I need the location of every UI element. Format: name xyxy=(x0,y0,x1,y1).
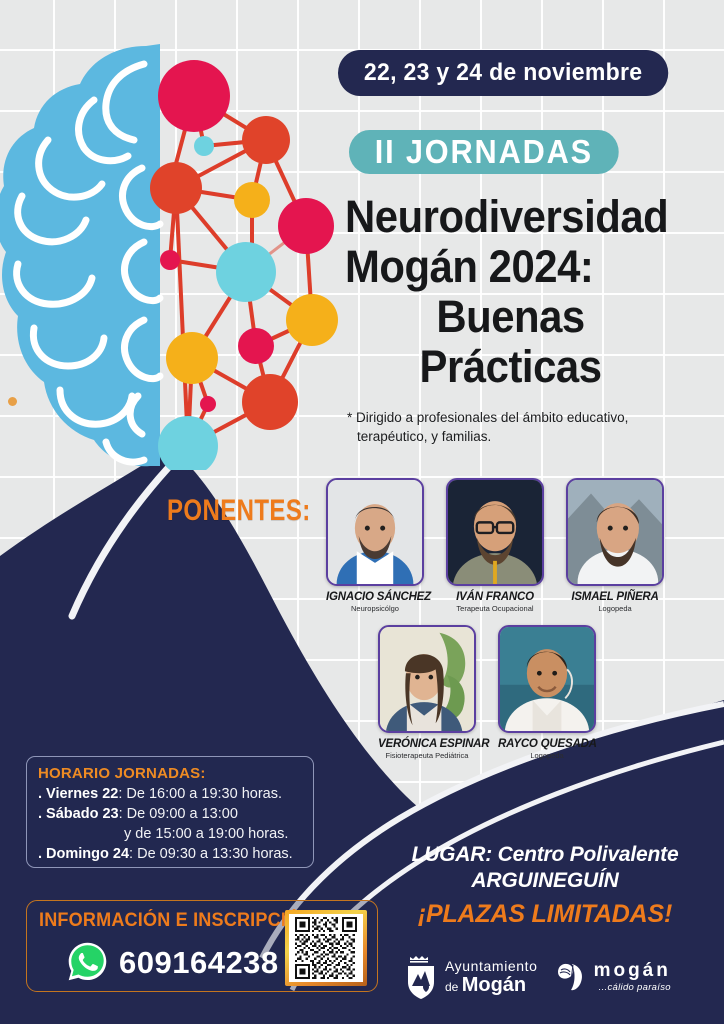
edition-badge: II JORNADAS xyxy=(349,130,619,174)
whatsapp-icon[interactable] xyxy=(67,941,108,982)
phone-number[interactable]: 609164238 xyxy=(119,945,279,981)
speaker-card: RAYCO QUESADA Logopeda xyxy=(498,625,596,760)
ayuntamiento-bottom-word: de Mogán xyxy=(445,975,538,995)
footer-logos: Ayuntamiento de Mogán mogán ...cálido pa… xyxy=(404,946,704,1008)
venue-info: LUGAR: Centro Polivalente ARGUINEGUÍN xyxy=(384,842,706,894)
contact-box: INFORMACIÓN E INSCRIPCIÓN: 609164238 xyxy=(26,900,378,992)
qr-code[interactable] xyxy=(285,910,367,986)
speakers-section-label: PONENTES: xyxy=(167,494,311,528)
contact-title: INFORMACIÓN E INSCRIPCIÓN: xyxy=(39,910,320,932)
speaker-name: RAYCO QUESADA xyxy=(498,738,596,750)
venue-line-2: ARGUINEGUÍN xyxy=(384,868,706,894)
ayuntamiento-logo: Ayuntamiento de Mogán xyxy=(404,954,538,1000)
speaker-photo xyxy=(326,478,424,586)
schedule-sunday-label: . Domingo 24 xyxy=(38,846,129,862)
speaker-photo xyxy=(446,478,544,586)
schedule-saturday-time2: y de 15:00 a 19:00 horas. xyxy=(38,824,302,844)
brain-right-network xyxy=(150,60,338,470)
speaker-role: Logopeda xyxy=(566,604,664,613)
schedule-saturday-time: : De 09:00 a 13:00 xyxy=(119,806,238,822)
speaker-photo xyxy=(498,625,596,733)
brain-left-hemisphere xyxy=(0,44,160,466)
mogan-tourism-logo: mogán ...cálido paraíso xyxy=(554,960,671,994)
title-line-1: Neurodiversidad xyxy=(345,191,668,242)
limited-places-notice: ¡PLAZAS LIMITADAS! xyxy=(384,900,706,929)
speakers-row-top: IGNACIO SÁNCHEZ Neuropsicólgo IVÁN FRANC… xyxy=(326,478,664,613)
mogan-tagline: ...cálido paraíso xyxy=(594,983,671,993)
speaker-photo xyxy=(566,478,664,586)
speakers-row-bottom: VERÓNICA ESPINAR Fisioterapeuta Pediátri… xyxy=(378,625,596,760)
ayuntamiento-de: de xyxy=(445,980,462,994)
speaker-role: Fisioterapeuta Pediátrica xyxy=(378,751,476,760)
ayuntamiento-top-word: Ayuntamiento xyxy=(445,959,538,973)
page-title: Neurodiversidad Mogán 2024: Buenas Práct… xyxy=(345,192,689,392)
speaker-role: Terapeuta Ocupacional xyxy=(446,604,544,613)
source-watermark xyxy=(6,352,20,412)
crest-icon xyxy=(404,954,438,1000)
audience-note: * Dirigido a profesionales del ámbito ed… xyxy=(347,408,697,446)
speaker-name: VERÓNICA ESPINAR xyxy=(378,738,476,750)
schedule-friday: . Viernes 22: De 16:00 a 19:30 horas. xyxy=(38,784,302,804)
schedule-box: HORARIO JORNADAS: . Viernes 22: De 16:00… xyxy=(26,756,314,868)
speaker-role: Logopeda xyxy=(498,751,596,760)
speaker-name: IVÁN FRANCO xyxy=(446,591,544,603)
mogan-name: mogán xyxy=(594,961,671,980)
schedule-sunday-time: : De 09:30 a 13:30 horas. xyxy=(129,846,293,862)
schedule-title: HORARIO JORNADAS: xyxy=(38,765,302,782)
speaker-name: ISMAEL PIÑERA xyxy=(566,591,664,603)
title-line-2: Mogán 2024: xyxy=(345,242,689,292)
mogan-wordmark: mogán ...cálido paraíso xyxy=(594,961,671,993)
speaker-photo xyxy=(378,625,476,733)
brain-network-illustration xyxy=(0,28,346,470)
schedule-friday-time: : De 16:00 a 19:30 horas. xyxy=(118,786,282,802)
speaker-card: IVÁN FRANCO Terapeuta Ocupacional xyxy=(446,478,544,613)
speaker-name: IGNACIO SÁNCHEZ xyxy=(326,591,424,603)
title-line-3: Buenas Prácticas xyxy=(345,292,689,392)
schedule-friday-label: . Viernes 22 xyxy=(38,786,118,802)
note-line-2: terapéutico, y familias. xyxy=(347,427,697,446)
ayuntamiento-mogan: Mogán xyxy=(462,974,526,996)
date-banner: 22, 23 y 24 de noviembre xyxy=(338,50,668,96)
schedule-saturday: . Sábado 23: De 09:00 a 13:00 xyxy=(38,804,302,824)
ayuntamiento-wordmark: Ayuntamiento de Mogán xyxy=(445,959,538,995)
schedule-saturday-label: . Sábado 23 xyxy=(38,806,119,822)
speaker-card: VERÓNICA ESPINAR Fisioterapeuta Pediátri… xyxy=(378,625,476,760)
schedule-sunday: . Domingo 24: De 09:30 a 13:30 horas. xyxy=(38,844,302,864)
poster-root: 22, 23 y 24 de noviembre II JORNADAS Neu… xyxy=(0,0,724,1024)
leaf-flower-icon xyxy=(554,960,588,994)
speaker-card: ISMAEL PIÑERA Logopeda xyxy=(566,478,664,613)
venue-line-1: LUGAR: Centro Polivalente xyxy=(384,842,706,868)
note-line-1: * Dirigido a profesionales del ámbito ed… xyxy=(347,410,628,425)
speaker-card: IGNACIO SÁNCHEZ Neuropsicólgo xyxy=(326,478,424,613)
speaker-role: Neuropsicólgo xyxy=(326,604,424,613)
